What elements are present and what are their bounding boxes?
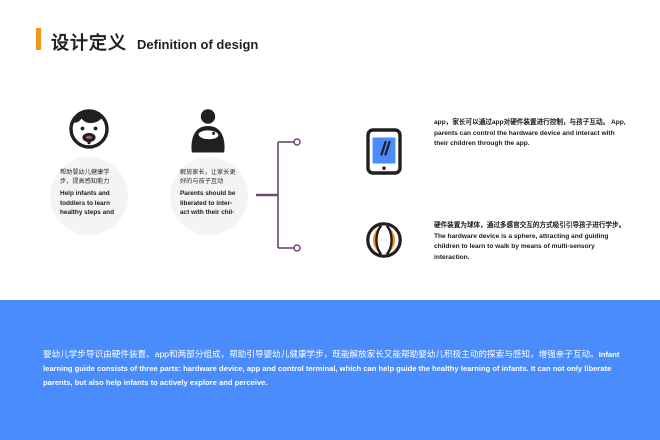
concept-bubble-1: 帮助婴幼儿健康学步，提高感知能力 Help infants and toddle… xyxy=(50,157,128,235)
concept-1-text-en: Help infants and toddlers to learn healt… xyxy=(60,189,120,218)
branch-1-text: app，家长可以通过app对硬件装置进行控制，与孩子互动。 App, paren… xyxy=(434,118,630,150)
baby-face-pacifier-icon xyxy=(66,108,112,159)
summary-footer-body: 婴幼儿学步导识由硬件装置、app和两部分组成，帮助引导婴幼儿健康学步，既能解放家… xyxy=(43,348,621,390)
branch-1-text-cn: app，家长可以通过app对硬件装置进行控制，与孩子互动。 xyxy=(434,119,609,126)
sphere-ball-icon xyxy=(365,221,403,264)
smartphone-app-icon xyxy=(366,128,402,180)
title-accent-bar xyxy=(36,28,41,50)
summary-footer: 婴幼儿学步导识由硬件装置、app和两部分组成，帮助引导婴幼儿健康学步，既能解放家… xyxy=(0,300,660,440)
summary-text-cn: 婴幼儿学步导识由硬件装置、app和两部分组成，帮助引导婴幼儿健康学步，既能解放家… xyxy=(43,349,599,359)
branch-2-text: 硬件装置为球体，通过多感官交互的方式吸引引导孩子进行学步。 The hardwa… xyxy=(434,221,630,264)
branch-2-text-en: The hardware device is a sphere, attract… xyxy=(434,233,608,261)
concept-bubble-2: 解放家长，让家长更好的与孩子互动 Parents should be liber… xyxy=(170,157,248,235)
branch-2-text-cn: 硬件装置为球体，通过多感官交互的方式吸引引导孩子进行学步。 xyxy=(434,222,625,229)
slide-root: 设计定义 Definition of design 帮助婴幼儿健康学步，提高感知… xyxy=(0,0,660,440)
title-english: Definition of design xyxy=(137,38,258,51)
concept-2-text-cn: 解放家长，让家长更好的与孩子互动 xyxy=(180,169,240,187)
title-chinese: 设计定义 xyxy=(51,34,127,52)
concept-2-text-en: Parents should be liberated to inter-act… xyxy=(180,189,240,218)
summary-text: 婴幼儿学步导识由硬件装置、app和两部分组成，帮助引导婴幼儿健康学步，既能解放家… xyxy=(43,348,621,390)
concept-1-text-cn: 帮助婴幼儿健康学步，提高感知能力 xyxy=(60,169,120,187)
parent-holding-baby-icon xyxy=(188,108,228,159)
branch-connector xyxy=(256,130,336,265)
page-title: 设计定义 Definition of design xyxy=(36,28,258,52)
